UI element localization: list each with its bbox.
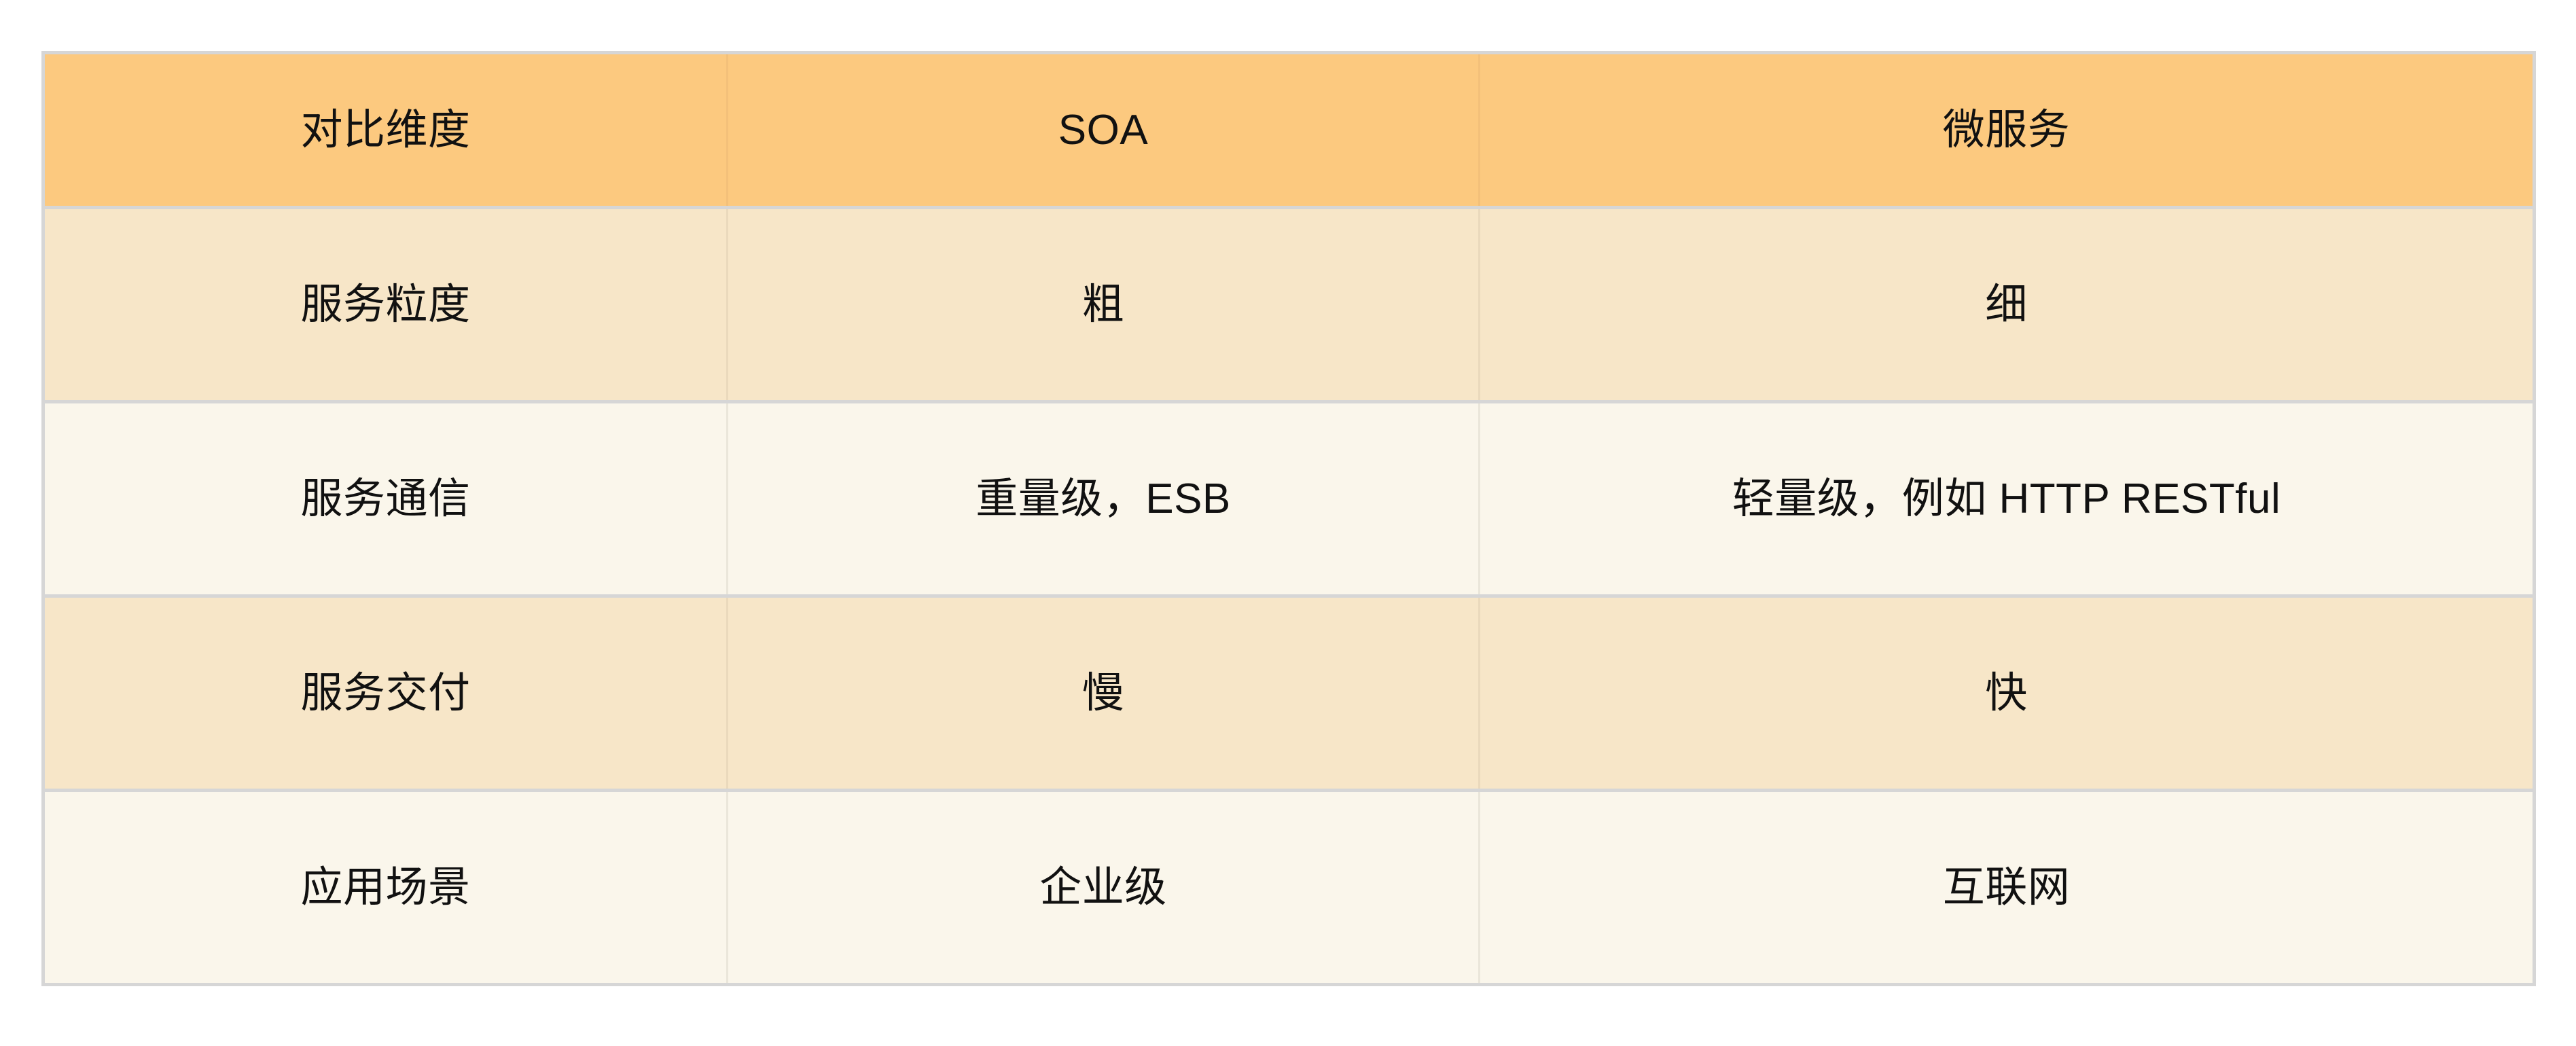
soa-vs-microservice-table: 对比维度 SOA 微服务 服务粒度 粗 [41,51,2536,986]
column-header-soa-label: SOA [742,103,1465,157]
column-header-soa: SOA [728,53,1480,208]
cell-dimension: 服务粒度 [43,208,728,402]
cell-soa-text: 慢 [742,666,1465,720]
cell-microservice-text: 细 [1494,278,2519,331]
column-header-dimension-label: 对比维度 [58,103,713,157]
table-row: 服务交付 慢 快 [43,596,2535,791]
cell-soa-text: 粗 [742,278,1465,331]
cell-soa: 企业级 [728,791,1480,985]
cell-dimension-text: 服务交付 [58,666,713,720]
table-header: 对比维度 SOA 微服务 [43,53,2535,208]
table-row: 服务通信 重量级，ESB 轻量级，例如 HTTP RESTful [43,402,2535,596]
cell-microservice: 轻量级，例如 HTTP RESTful [1480,402,2535,596]
cell-dimension: 服务交付 [43,596,728,791]
cell-soa: 粗 [728,208,1480,402]
table-body: 服务粒度 粗 细 服务通信 重量级，ESB [43,208,2535,985]
table-row: 应用场景 企业级 互联网 [43,791,2535,985]
cell-soa: 慢 [728,596,1480,791]
table-row: 服务粒度 粗 细 [43,208,2535,402]
column-header-microservice-label: 微服务 [1494,103,2519,157]
cell-soa: 重量级，ESB [728,402,1480,596]
column-header-microservice: 微服务 [1480,53,2535,208]
column-header-dimension: 对比维度 [43,53,728,208]
cell-microservice: 细 [1480,208,2535,402]
cell-soa-text: 企业级 [742,861,1465,914]
cell-microservice: 互联网 [1480,791,2535,985]
cell-dimension: 服务通信 [43,402,728,596]
cell-microservice-text: 互联网 [1494,861,2519,914]
comparison-table-container: 对比维度 SOA 微服务 服务粒度 粗 [41,51,2533,984]
cell-microservice-text: 轻量级，例如 HTTP RESTful [1494,472,2519,526]
cell-microservice-text: 快 [1494,666,2519,720]
cell-dimension-text: 服务通信 [58,472,713,526]
cell-microservice: 快 [1480,596,2535,791]
cell-dimension-text: 服务粒度 [58,278,713,331]
cell-soa-text: 重量级，ESB [742,472,1465,526]
page-root: 对比维度 SOA 微服务 服务粒度 粗 [0,0,2576,1046]
cell-dimension: 应用场景 [43,791,728,985]
table-header-row: 对比维度 SOA 微服务 [43,53,2535,208]
cell-dimension-text: 应用场景 [58,861,713,914]
